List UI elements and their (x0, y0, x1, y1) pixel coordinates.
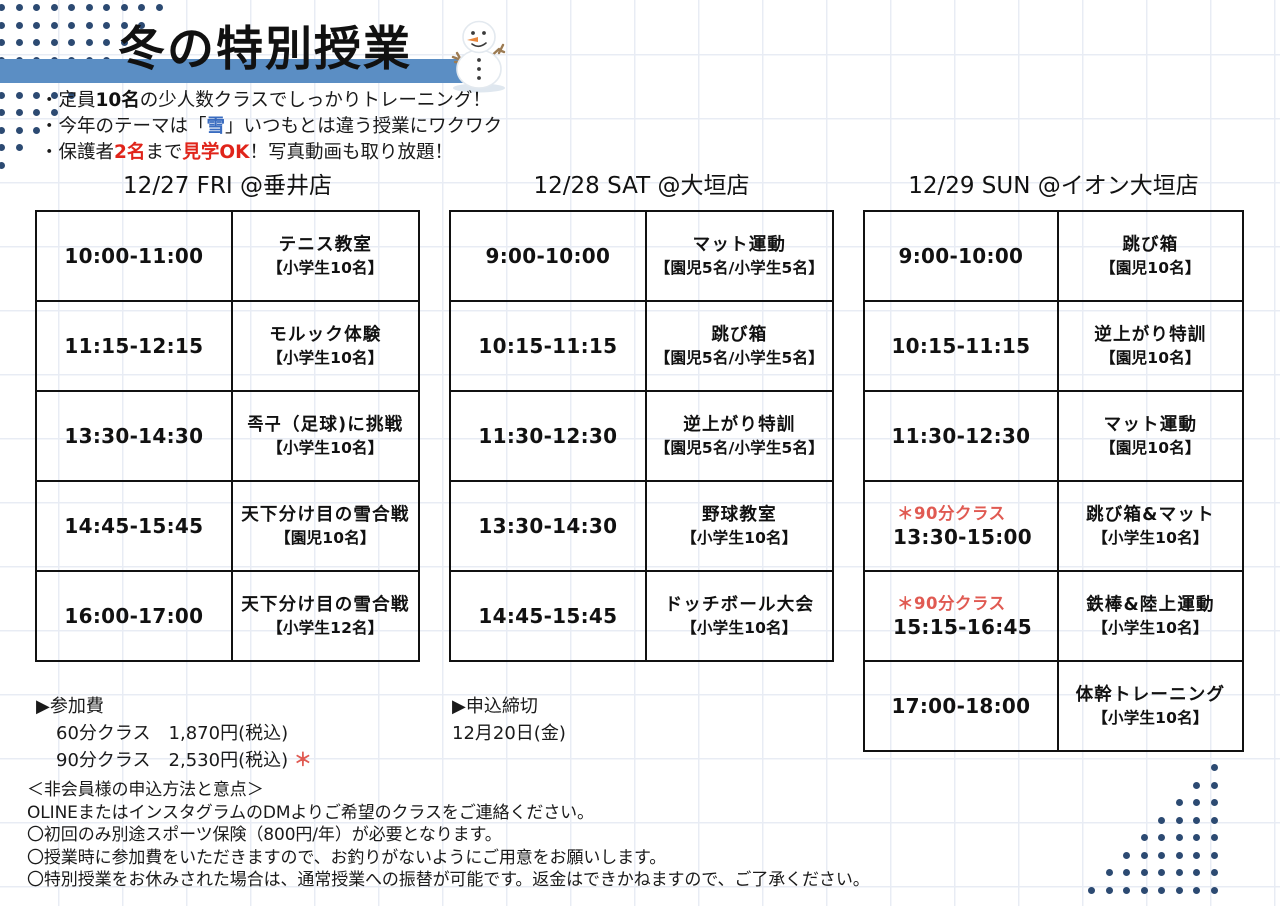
fee-row-90min: 90分クラス 2,530円(税込) ＊ (36, 747, 312, 774)
schedule-time-cell: 14:45-15:45 (36, 481, 232, 571)
schedule-time-cell: 13:30-14:30 (450, 481, 646, 571)
table-row: 11:30-12:30マット運動【園児10名】 (864, 391, 1243, 481)
class-name: 体幹トレーニング (1063, 684, 1238, 707)
schedule-time-cell: 10:15-11:15 (450, 301, 646, 391)
schedule-class-cell: 跳び箱【園児10名】 (1058, 211, 1243, 301)
class-name: 天下分け目の雪合戦 (237, 504, 414, 527)
fee-asterisk-icon: ＊ (294, 750, 312, 771)
intro-line-3-post: ！写真動画も取り放題！ (249, 142, 453, 163)
schedule-time-value: 14:45-15:45 (455, 604, 641, 628)
table-row: 13:30-14:30족구（足球)に挑戦【小学生10名】 (36, 391, 419, 481)
fee-heading: ▶参加費 (36, 693, 312, 720)
schedule-time-value: 11:30-12:30 (455, 424, 641, 448)
table-row: 14:45-15:45ドッチボール大会【小学生10名】 (450, 571, 833, 661)
table-row: 11:30-12:30逆上がり特訓【園児5名/小学生5名】 (450, 391, 833, 481)
schedule-time-cell: 9:00-10:00 (450, 211, 646, 301)
footer-note-3: 〇授業時に参加費をいただきますので、お釣りがないようにご用意をお願いします。 (27, 847, 1087, 870)
fee-row-90min-text: 90分クラス 2,530円(税込) (56, 750, 288, 771)
footer-note-4: 〇特別授業をお休みされた場合は、通常授業への振替が可能です。返金はできかねますの… (27, 869, 1087, 892)
deadline-heading: ▶申込締切 (452, 693, 566, 720)
schedule-time-cell: 11:15-12:15 (36, 301, 232, 391)
class-name: 跳び箱 (651, 324, 828, 347)
class-capacity: 【園児10名】 (1063, 257, 1238, 279)
class-capacity: 【小学生10名】 (1063, 527, 1238, 549)
fee-row-60min: 60分クラス 1,870円(税込) (36, 720, 312, 747)
class-capacity: 【小学生10名】 (237, 437, 414, 459)
schedule-class-cell: 족구（足球)に挑戦【小学生10名】 (232, 391, 419, 481)
footer-note-1: OLINEまたはインスタグラムのDMよりご希望のクラスをご連絡ください。 (27, 802, 1087, 825)
class-capacity: 【園児10名】 (237, 527, 414, 549)
class-capacity: 【小学生10名】 (651, 527, 828, 549)
schedule-class-cell: 鉄棒&陸上運動【小学生10名】 (1058, 571, 1243, 661)
schedule-class-cell: マット運動【園児5名/小学生5名】 (646, 211, 833, 301)
class-capacity: 【小学生10名】 (1063, 707, 1238, 729)
table-row: 9:00-10:00マット運動【園児5名/小学生5名】 (450, 211, 833, 301)
class-name: 跳び箱&マット (1063, 504, 1238, 527)
schedule-class-cell: 逆上がり特訓【園児10名】 (1058, 301, 1243, 391)
schedule-class-cell: ドッチボール大会【小学生10名】 (646, 571, 833, 661)
intro-line-1-highlight: 10名 (96, 90, 140, 111)
class-capacity: 【小学生10名】 (237, 257, 414, 279)
schedule-class-cell: 跳び箱【園児5名/小学生5名】 (646, 301, 833, 391)
class-name: 跳び箱 (1063, 234, 1238, 257)
class-name: マット運動 (651, 234, 828, 257)
table-row: 9:00-10:00跳び箱【園児10名】 (864, 211, 1243, 301)
schedule-time-cell: 14:45-15:45 (450, 571, 646, 661)
deadline-date: 12月20日(金) (452, 720, 566, 747)
table-row: 10:00-11:00テニス教室【小学生10名】 (36, 211, 419, 301)
intro-line-1-pre: ・定員 (40, 90, 96, 111)
schedule-time-value: 13:30-14:30 (455, 514, 641, 538)
schedule-time-value: 16:00-17:00 (41, 604, 227, 628)
class-name: 족구（足球)に挑戦 (237, 414, 414, 437)
schedule-class-cell: テニス教室【小学生10名】 (232, 211, 419, 301)
class-capacity: 【園児10名】 (1063, 347, 1238, 369)
schedule-time-value: 9:00-10:00 (869, 244, 1053, 268)
schedule-class-cell: 天下分け目の雪合戦【小学生12名】 (232, 571, 419, 661)
class-name: ドッチボール大会 (651, 594, 828, 617)
intro-line-2-highlight: 雪 (207, 116, 226, 137)
schedule-time-value: 17:00-18:00 (869, 694, 1053, 718)
day-header-1: 12/28 SAT @大垣店 (449, 170, 834, 210)
day-column-0: 12/27 FRI @垂井店 10:00-11:00テニス教室【小学生10名】1… (35, 170, 420, 662)
schedule-time-cell: 11:30-12:30 (864, 391, 1058, 481)
intro-line-1-post: の少人数クラスでしっかりトレーニング！ (140, 90, 491, 111)
intro-line-2-pre: ・今年のテーマは「 (40, 116, 207, 137)
class-name: モルック体験 (237, 324, 414, 347)
table-row: 17:00-18:00体幹トレーニング【小学生10名】 (864, 661, 1243, 751)
class-capacity: 【小学生12名】 (237, 617, 414, 639)
schedule-class-cell: モルック体験【小学生10名】 (232, 301, 419, 391)
schedule-time-cell: 16:00-17:00 (36, 571, 232, 661)
class-duration-note: ＊90分クラス (887, 503, 1053, 525)
class-name: 天下分け目の雪合戦 (237, 594, 414, 617)
class-duration-note: ＊90分クラス (887, 593, 1053, 615)
intro-line-2: ・今年のテーマは「雪」いつもとは違う授業にワクワク (40, 114, 560, 140)
class-name: 逆上がり特訓 (651, 414, 828, 437)
class-capacity: 【園児10名】 (1063, 437, 1238, 459)
schedule-time-cell: ＊90分クラス13:30-15:00 (864, 481, 1058, 571)
deadline-block: ▶申込締切 12月20日(金) (452, 693, 566, 747)
footer-note-2: 〇初回のみ別途スポーツ保険（800円/年）が必要となります。 (27, 824, 1087, 847)
schedule-time-value: 11:15-12:15 (41, 334, 227, 358)
schedule-time-value: 13:30-15:00 (887, 525, 1053, 549)
schedule-time-cell: 13:30-14:30 (36, 391, 232, 481)
schedule-class-cell: マット運動【園児10名】 (1058, 391, 1243, 481)
schedule-time-cell: 17:00-18:00 (864, 661, 1058, 751)
table-row: ＊90分クラス13:30-15:00跳び箱&マット【小学生10名】 (864, 481, 1243, 571)
intro-bullets: ・定員10名の少人数クラスでしっかりトレーニング！ ・今年のテーマは「雪」いつも… (40, 88, 560, 166)
snowman-icon (437, 13, 521, 95)
schedule-time-value: 15:15-16:45 (887, 615, 1053, 639)
poster-canvas: 冬の特別授業 ・定員10名の少人数クラスでしっかりトレーニング！ ・今年のテーマ… (0, 0, 1280, 906)
table-row: 16:00-17:00天下分け目の雪合戦【小学生12名】 (36, 571, 419, 661)
intro-line-3-highlight-1: 2名 (114, 142, 145, 163)
schedule-class-cell: 野球教室【小学生10名】 (646, 481, 833, 571)
class-capacity: 【小学生10名】 (237, 347, 414, 369)
schedule-time-value: 10:15-11:15 (869, 334, 1053, 358)
schedule-time-value: 13:30-14:30 (41, 424, 227, 448)
schedule-class-cell: 体幹トレーニング【小学生10名】 (1058, 661, 1243, 751)
table-row: 10:15-11:15逆上がり特訓【園児10名】 (864, 301, 1243, 391)
schedule-table-2: 9:00-10:00跳び箱【園児10名】10:15-11:15逆上がり特訓【園児… (863, 210, 1244, 752)
schedule-class-cell: 跳び箱&マット【小学生10名】 (1058, 481, 1243, 571)
table-row: 11:15-12:15モルック体験【小学生10名】 (36, 301, 419, 391)
intro-line-3-highlight-2: 見学OK (182, 142, 249, 163)
table-row: ＊90分クラス15:15-16:45鉄棒&陸上運動【小学生10名】 (864, 571, 1243, 661)
schedule-time-cell: 9:00-10:00 (864, 211, 1058, 301)
schedule-class-cell: 天下分け目の雪合戦【園児10名】 (232, 481, 419, 571)
schedule-table-0: 10:00-11:00テニス教室【小学生10名】11:15-12:15モルック体… (35, 210, 420, 662)
day-header-0: 12/27 FRI @垂井店 (35, 170, 420, 210)
fee-block: ▶参加費 60分クラス 1,870円(税込) 90分クラス 2,530円(税込)… (36, 693, 312, 774)
decorative-dots-bottom-right (1088, 764, 1278, 904)
intro-line-3-pre: ・保護者 (40, 142, 114, 163)
schedule-time-value: 9:00-10:00 (455, 244, 641, 268)
intro-line-3: ・保護者2名まで見学OK！写真動画も取り放題！ (40, 140, 560, 166)
footer-notes: ＜非会員様の申込方法と意点＞ OLINEまたはインスタグラムのDMよりご希望のク… (27, 779, 1087, 892)
table-row: 14:45-15:45天下分け目の雪合戦【園児10名】 (36, 481, 419, 571)
intro-line-3-mid: まで (145, 142, 182, 163)
schedule-time-value: 10:15-11:15 (455, 334, 641, 358)
class-name: マット運動 (1063, 414, 1238, 437)
class-capacity: 【小学生10名】 (1063, 617, 1238, 639)
schedule-time-cell: ＊90分クラス15:15-16:45 (864, 571, 1058, 661)
schedule-time-value: 11:30-12:30 (869, 424, 1053, 448)
class-name: 鉄棒&陸上運動 (1063, 594, 1238, 617)
schedule-class-cell: 逆上がり特訓【園児5名/小学生5名】 (646, 391, 833, 481)
class-name: 逆上がり特訓 (1063, 324, 1238, 347)
schedule-time-value: 10:00-11:00 (41, 244, 227, 268)
day-column-2: 12/29 SUN @イオン大垣店 9:00-10:00跳び箱【園児10名】10… (863, 170, 1244, 752)
table-row: 13:30-14:30野球教室【小学生10名】 (450, 481, 833, 571)
class-capacity: 【小学生10名】 (651, 617, 828, 639)
class-name: 野球教室 (651, 504, 828, 527)
intro-line-2-post: 」いつもとは違う授業にワクワク (225, 116, 502, 137)
day-header-2: 12/29 SUN @イオン大垣店 (863, 170, 1244, 210)
class-name: テニス教室 (237, 234, 414, 257)
footer-note-0: ＜非会員様の申込方法と意点＞ (27, 779, 1087, 802)
day-column-1: 12/28 SAT @大垣店 9:00-10:00マット運動【園児5名/小学生5… (449, 170, 834, 662)
class-capacity: 【園児5名/小学生5名】 (651, 347, 828, 369)
table-row: 10:15-11:15跳び箱【園児5名/小学生5名】 (450, 301, 833, 391)
schedule-time-cell: 10:15-11:15 (864, 301, 1058, 391)
class-capacity: 【園児5名/小学生5名】 (651, 437, 828, 459)
class-capacity: 【園児5名/小学生5名】 (651, 257, 828, 279)
schedule-time-cell: 11:30-12:30 (450, 391, 646, 481)
schedule-table-1: 9:00-10:00マット運動【園児5名/小学生5名】10:15-11:15跳び… (449, 210, 834, 662)
intro-line-1: ・定員10名の少人数クラスでしっかりトレーニング！ (40, 88, 560, 114)
schedule-time-cell: 10:00-11:00 (36, 211, 232, 301)
page-title: 冬の特別授業 (118, 10, 412, 79)
schedule-time-value: 14:45-15:45 (41, 514, 227, 538)
